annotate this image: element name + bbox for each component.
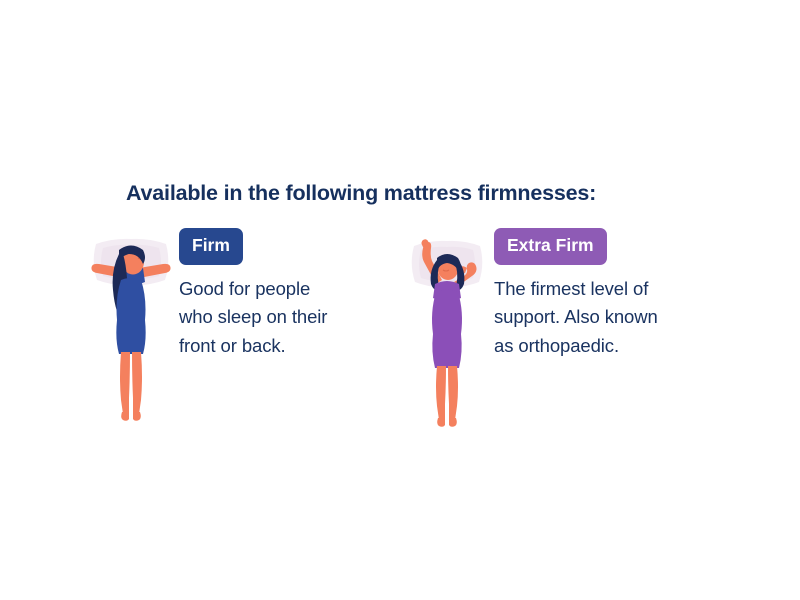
legs-shape (120, 352, 142, 414)
description-line: Good for people (179, 275, 409, 304)
illustration-woman-lying-on-pillow-arms-spread (83, 228, 179, 428)
firm-text-column: Firm Good for people who sleep on their … (179, 228, 409, 360)
description-line: front or back. (179, 332, 409, 361)
extra-firm-text-column: Extra Firm The firmest level of support.… (494, 228, 724, 360)
illustration-woman-lying-on-pillow-arms-raised (398, 228, 494, 428)
firm-description: Good for people who sleep on their front… (179, 275, 409, 361)
badge-firm[interactable]: Firm (179, 228, 243, 265)
badge-extra-firm[interactable]: Extra Firm (494, 228, 607, 265)
description-line: as orthopaedic. (494, 332, 724, 361)
extra-firm-description: The firmest level of support. Also known… (494, 275, 724, 361)
description-line: The firmest level of (494, 275, 724, 304)
feet-shape (121, 412, 141, 421)
description-line: who sleep on their (179, 303, 409, 332)
description-line: support. Also known (494, 303, 724, 332)
page-title: Available in the following mattress firm… (126, 181, 596, 206)
dress-shape (432, 290, 462, 369)
legs-shape (436, 366, 458, 420)
feet-shape (437, 418, 457, 427)
dress-shape (116, 278, 145, 354)
mattress-firmness-infographic: Available in the following mattress firm… (0, 0, 800, 600)
